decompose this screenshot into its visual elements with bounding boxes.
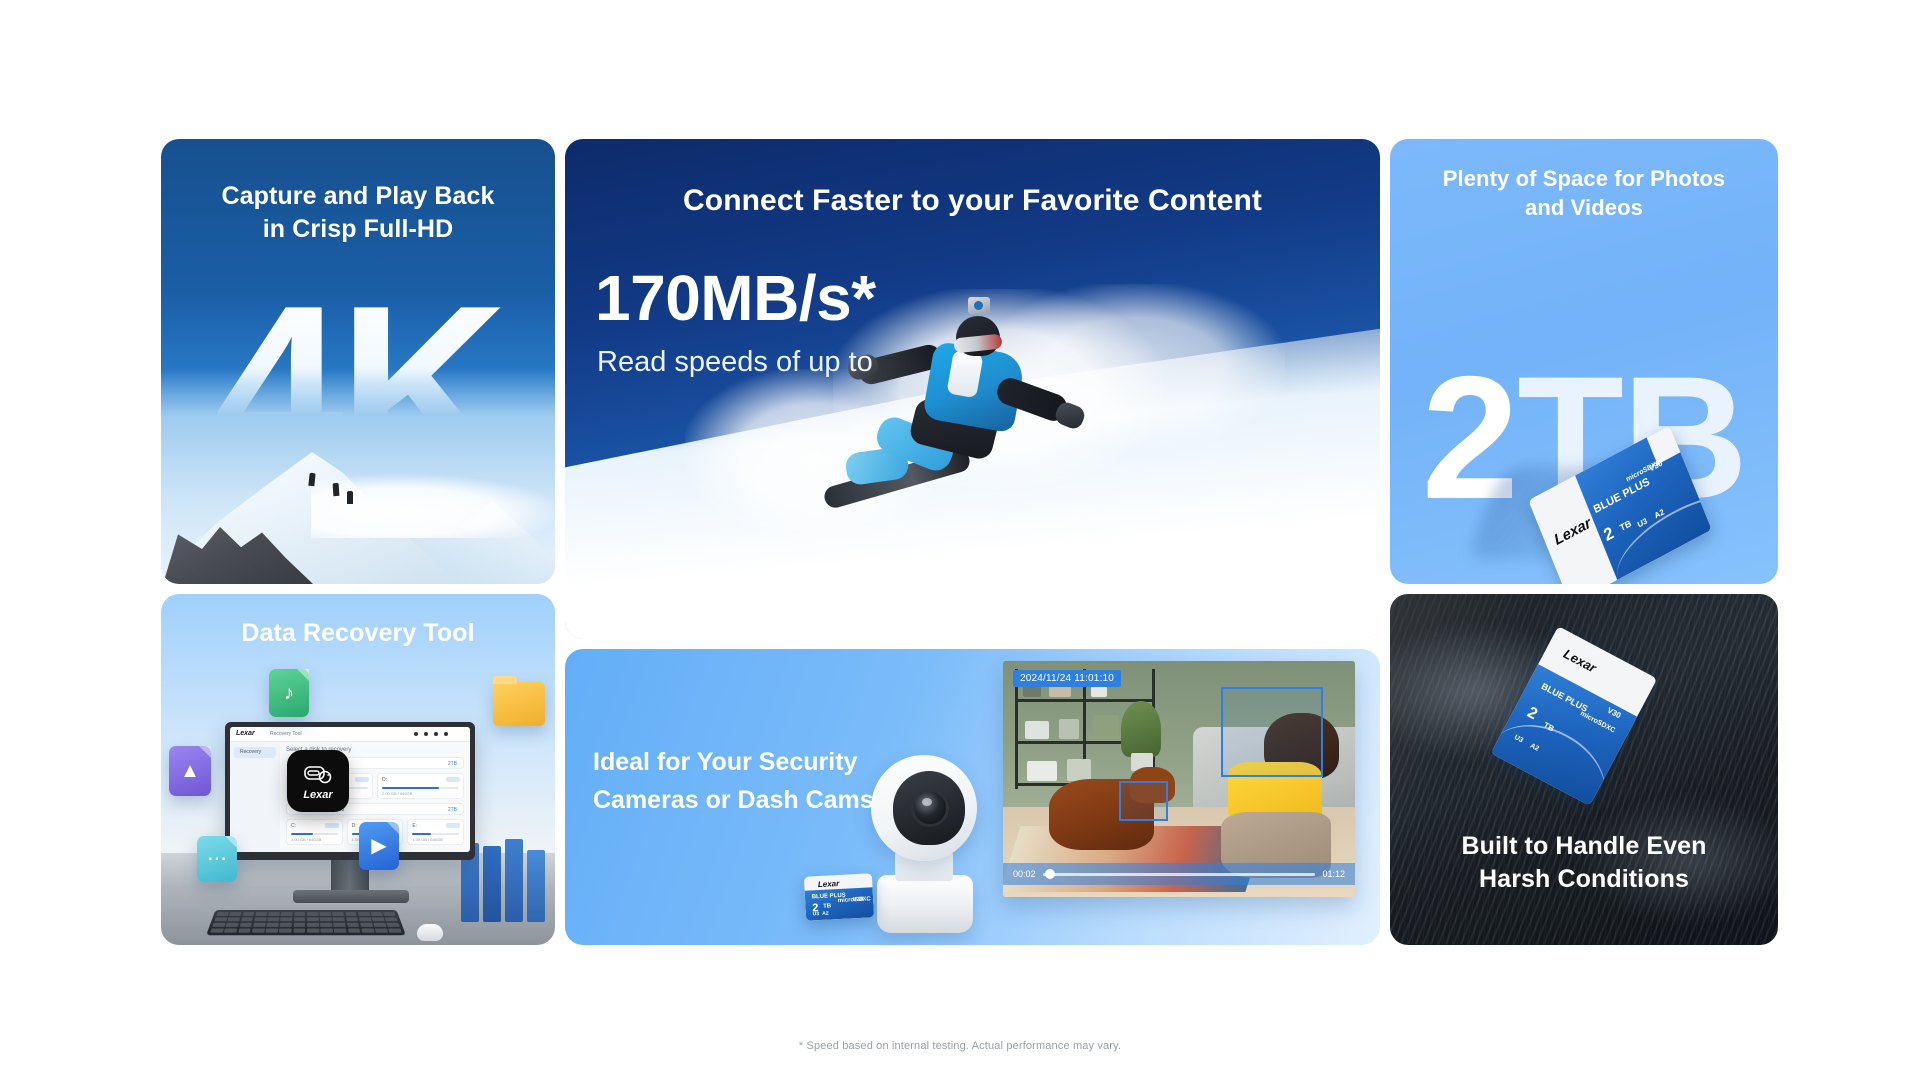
disk-usage-text: 2.00 GB / 640GB [382,791,412,796]
title-line-1: Ideal for Your Security [593,744,874,782]
detection-box-person [1221,687,1323,777]
card-full-hd: 4K Capture and Play Back in Crisp Full-H… [161,139,555,584]
generic-file-icon: ⋯ [197,836,237,882]
microsd-card: Lexar BLUE PLUS 2 TB microSDXC U3 A2 V30 [804,873,874,920]
music-file-icon: ♪ [269,669,309,717]
disk-cell[interactable]: E: 1.00 GB / 640GB [407,819,464,845]
disk-badge [325,823,339,828]
feature-grid: 4K Capture and Play Back in Crisp Full-H… [0,0,1920,1080]
title-line-2: Harsh Conditions [1390,863,1778,896]
lexar-app-badge: Lexar [287,750,349,812]
disk-cell[interactable]: D: 2.00 GB / 640GB [377,773,464,799]
camera-footage: 2024/11/24 11:01:10 00:02 01:12 [1003,661,1355,897]
card-capacity: 2TB Lexar BLUE PLUS 2 TB microSDXC U3 A2… [1390,139,1778,584]
sd-video-class-label: V30 [853,897,864,904]
image-file-icon: ▲ [169,746,211,796]
disk-usage-text: 1.00 GB / 640GB [291,837,321,842]
disk-recovery-icon [303,762,333,786]
disk-badge [446,823,460,828]
snowboarder [850,300,1110,515]
speed-caption: Read speeds of up to [597,346,873,379]
folder-icon [493,682,545,726]
footage-timestamp: 2024/11/24 11:01:10 [1013,670,1121,687]
title-line-2: Cameras or Dash Cams [593,782,874,820]
sidebar-item-label: Recovery [240,749,261,755]
disk-badge [446,777,460,782]
disk-group-capacity: 2TB [448,761,457,767]
scrubber-track[interactable] [1043,873,1316,876]
security-camera [865,755,985,933]
video-file-icon: ▶ [359,822,399,870]
card-security-cameras: 2024/11/24 11:01:10 00:02 01:12 Lexar BL… [565,649,1380,945]
disk-usage-bar [291,833,338,835]
card-title-harsh: Built to Handle Even Harsh Conditions [1390,830,1778,895]
disk-group-capacity: 2TB [448,807,457,813]
disk-usage-text: 1.00 GB / 640GB [412,837,442,842]
sd-brand-label: Lexar [818,878,840,888]
monitor: Lexar Recovery Tool Recovery Select a di… [225,722,475,860]
keyboard [206,910,406,935]
sd-capacity-unit: TB [823,904,831,910]
lexar-badge-label: Lexar [303,789,332,801]
monitor-base [293,890,409,903]
title-line-1: Capture and Play Back [161,180,555,213]
monitor-screen: Lexar Recovery Tool Recovery Select a di… [230,727,470,852]
sd-class-label: U3 [813,911,820,917]
app-logo: Lexar [236,730,255,737]
sd-brand-label: Lexar [1561,646,1599,676]
climber-figure [333,483,340,496]
disk-badge [355,777,369,782]
title-line-2: and Videos [1390,194,1778,223]
card-title-capacity: Plenty of Space for Photos and Videos [1390,165,1778,222]
titlebar-controls[interactable] [414,732,448,736]
card-data-recovery: Lexar Recovery Tool Recovery Select a di… [161,594,555,945]
disk-usage-bar [412,833,459,835]
climber-figure [347,491,353,504]
scrubber-knob[interactable] [1045,869,1055,879]
app-titlebar: Lexar Recovery Tool [230,727,470,742]
card-title-security: Ideal for Your Security Cameras or Dash … [593,744,874,819]
camera-head [871,755,977,861]
detection-box-pet [1119,781,1168,821]
time-current: 00:02 [1013,869,1036,879]
sd-card-body: Lexar BLUE PLUS 2 TB microSDXC U3 A2 V30 [804,873,874,920]
sd-app-class-label: A2 [822,911,829,917]
card-read-speed: Connect Faster to your Favorite Content … [565,139,1380,639]
camera-base [877,875,973,933]
disk-cell[interactable]: C: 1.00 GB / 640GB [286,819,343,845]
footage-plant [1121,701,1161,757]
action-camera-icon [968,297,990,314]
app-window-title: Recovery Tool [270,731,302,737]
title-line-2: in Crisp Full-HD [161,213,555,246]
mouse [417,924,443,941]
card-title-recovery: Data Recovery Tool [161,617,555,650]
footnote: * Speed based on internal testing. Actua… [0,1040,1920,1052]
speed-value: 170MB/s* [595,261,876,335]
app-sidebar: Recovery [230,742,280,852]
playback-scrubber[interactable]: 00:02 01:12 [1003,863,1355,885]
title-line-1: Built to Handle Even [1390,830,1778,863]
title-line-1: Plenty of Space for Photos [1390,165,1778,194]
disk-usage-bar [382,787,459,789]
sd-brand-label: Lexar [1552,515,1594,550]
card-title-full-hd: Capture and Play Back in Crisp Full-HD [161,180,555,245]
card-title-speed: Connect Faster to your Favorite Content [565,181,1380,220]
card-harsh-conditions: Lexar BLUE PLUS 2 TB microSDXC U3 A2 V30… [1390,594,1778,945]
camera-lens [911,789,949,827]
cloud-band [311,474,555,538]
time-total: 01:12 [1322,869,1345,879]
